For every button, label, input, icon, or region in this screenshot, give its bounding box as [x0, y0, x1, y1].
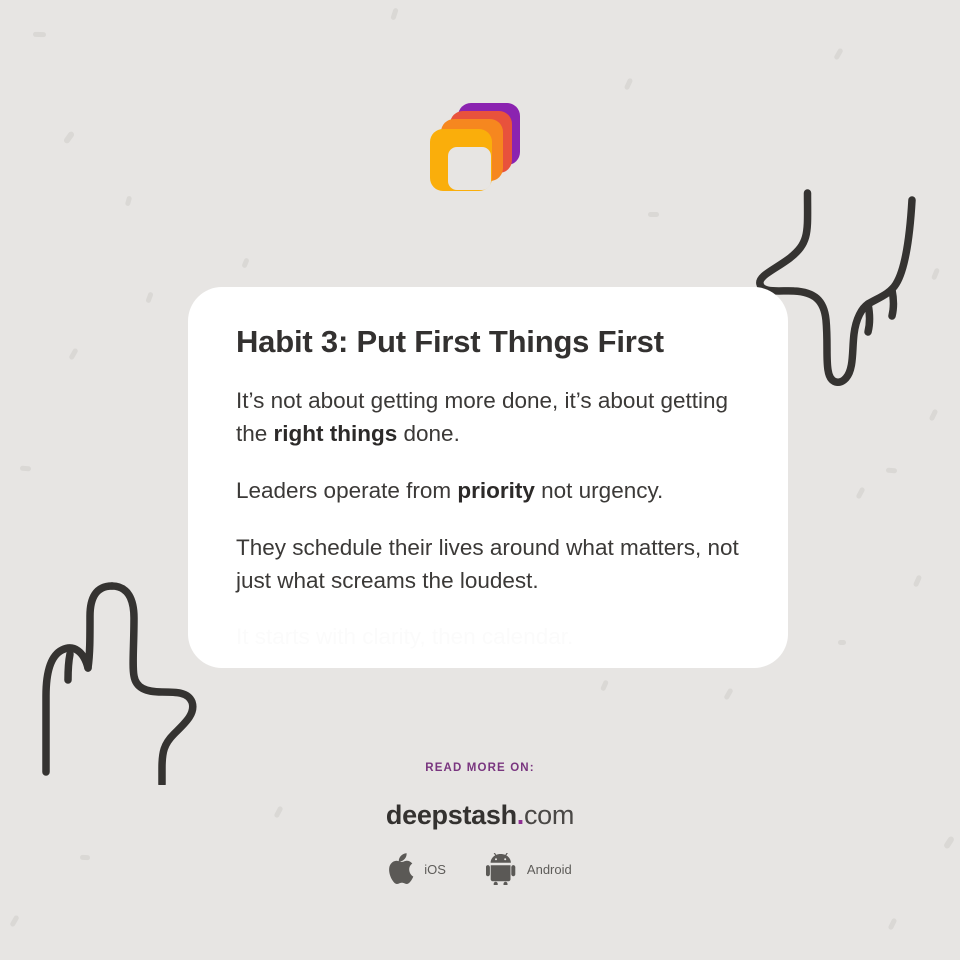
body-text: not urgency. — [535, 478, 663, 503]
card-paragraph-3: They schedule their lives around what ma… — [236, 531, 740, 597]
background-speck — [624, 78, 634, 91]
body-text: Leaders operate from — [236, 478, 457, 503]
store-badges: iOS Android — [0, 853, 960, 885]
background-speck — [390, 8, 398, 21]
poster-canvas: Habit 3: Put First Things First It’s not… — [0, 0, 960, 960]
background-speck — [68, 348, 78, 361]
wordmark-dot: . — [517, 800, 524, 830]
deepstash-wordmark[interactable]: deepstash.com — [0, 800, 960, 831]
card-content: Habit 3: Put First Things First It’s not… — [188, 287, 788, 653]
background-speck — [125, 196, 132, 207]
background-speck — [929, 409, 939, 422]
apple-icon — [388, 853, 415, 885]
background-speck — [913, 575, 922, 588]
deepstash-logo — [428, 103, 520, 195]
ios-store-label: iOS — [424, 862, 446, 877]
background-speck — [723, 688, 733, 701]
background-speck — [886, 468, 897, 474]
background-speck — [20, 466, 31, 472]
background-speck — [33, 32, 46, 37]
background-speck — [855, 487, 865, 500]
card-paragraph-1: It’s not about getting more done, it’s a… — [236, 384, 740, 450]
pointing-hand-up-icon — [16, 550, 206, 790]
read-more-label: READ MORE ON: — [0, 762, 960, 774]
android-store-badge[interactable]: Android — [486, 853, 572, 885]
background-speck — [600, 679, 609, 691]
emphasis-text: priority — [457, 478, 535, 503]
background-speck — [888, 918, 898, 931]
background-speck — [648, 212, 659, 217]
emphasis-text: right things — [274, 421, 398, 446]
android-icon — [486, 853, 518, 885]
body-text: They schedule their lives around what ma… — [236, 535, 739, 593]
wordmark-tld: com — [524, 800, 574, 830]
background-speck — [838, 640, 846, 645]
logo-cutout — [448, 147, 491, 190]
card-clipped-text: It starts with clarity, then calendar. — [236, 620, 740, 653]
ios-store-badge[interactable]: iOS — [388, 853, 446, 885]
footer: READ MORE ON: deepstash.com iOS — [0, 762, 960, 885]
wordmark-brand: deepstash — [386, 800, 517, 830]
quote-card: Habit 3: Put First Things First It’s not… — [188, 287, 788, 668]
background-speck — [9, 915, 19, 928]
card-title: Habit 3: Put First Things First — [236, 323, 740, 360]
background-speck — [145, 291, 153, 303]
background-speck — [833, 48, 843, 61]
background-speck — [63, 130, 75, 144]
android-store-label: Android — [527, 862, 572, 877]
body-text: done. — [397, 421, 460, 446]
card-paragraph-2: Leaders operate from priority not urgenc… — [236, 474, 740, 507]
background-speck — [241, 257, 249, 268]
background-speck — [931, 268, 940, 281]
